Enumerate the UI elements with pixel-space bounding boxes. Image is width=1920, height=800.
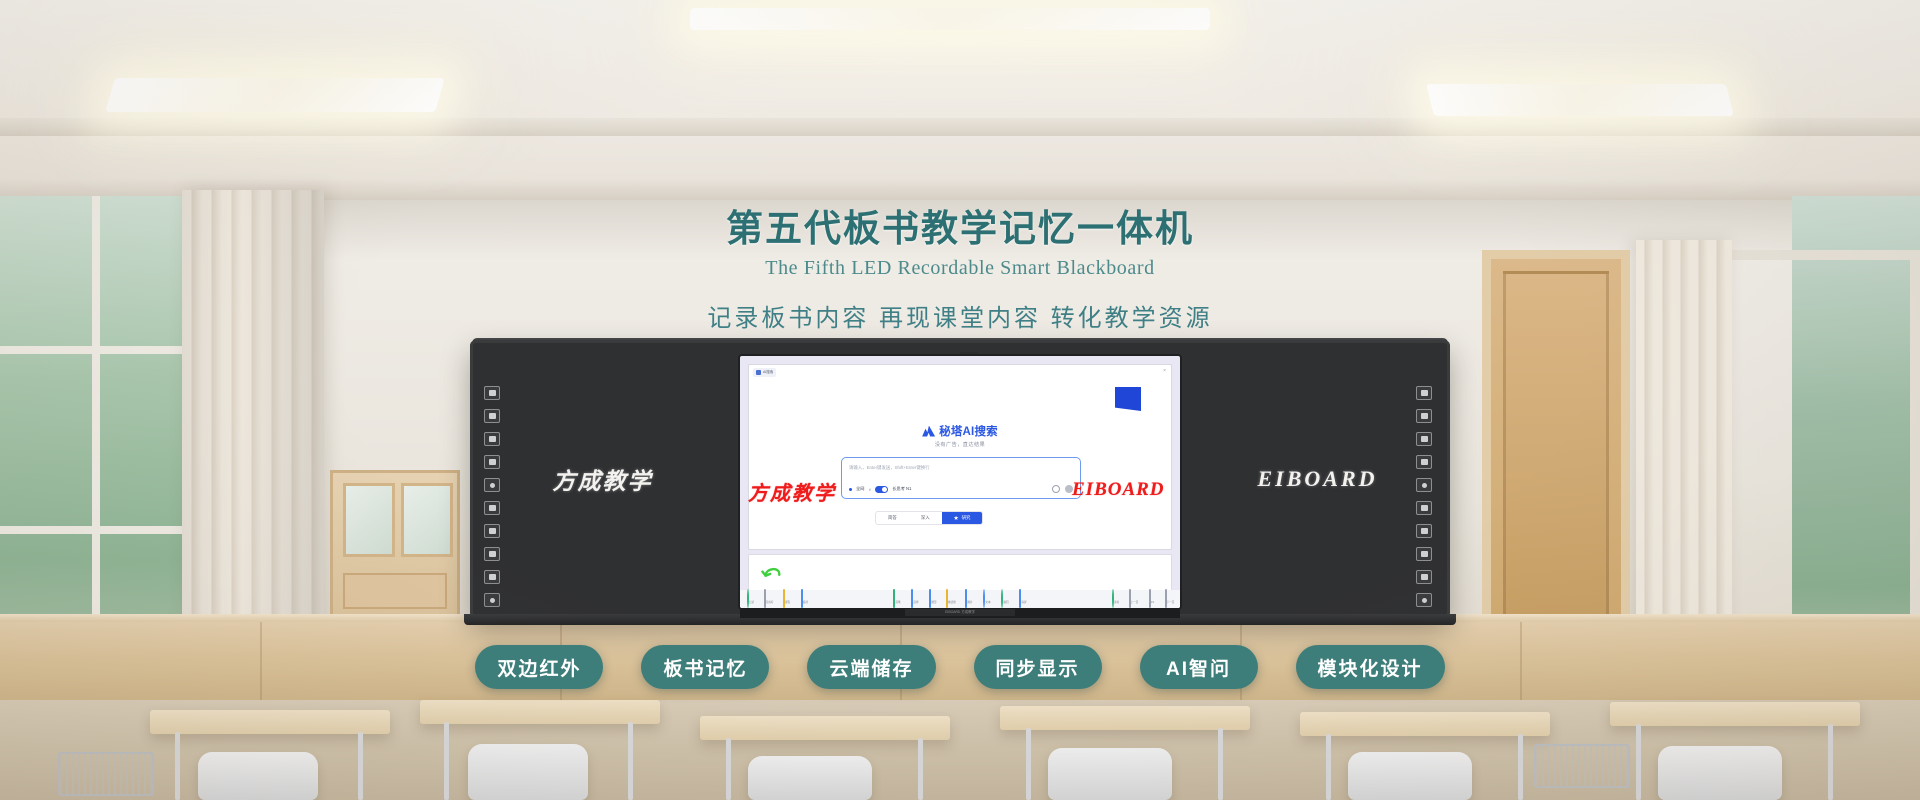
record-icon[interactable]: 记录 [745,590,756,608]
prev-page-icon[interactable]: 上一页 [1128,590,1139,608]
search-placeholder: 请输入，Enter键发送，Shift+Enter键换行 [849,465,930,471]
clear-screen-icon[interactable]: 清屏 [1018,590,1029,608]
brand-name: 秘塔AI搜索 [939,423,998,439]
desk [1000,706,1250,730]
desk [700,716,950,740]
toolbar-mid-group: 画笔 选择 图形 橡皮擦 图片 文本 撤回 [892,590,1029,608]
desk-basket [1534,744,1630,788]
board-right-wing: EIBOARD [1185,340,1450,618]
chair [1048,748,1172,800]
chevron-down-icon[interactable]: ∨ [868,487,871,492]
eraser-icon[interactable]: 橡皮擦 [946,590,957,608]
course-list-icon[interactable]: 课程 [781,590,792,608]
ceiling-light-2 [1426,84,1734,116]
desk-leg [444,722,449,800]
page-subtitle-en: The Fifth LED Recordable Smart Blackboar… [0,257,1920,280]
chair [1348,752,1472,800]
tab-research-label: 研究 [962,515,971,521]
camera-upload-icon[interactable] [1052,485,1060,493]
desk-leg [1636,724,1641,800]
classroom-scene: 第五代板书教学记忆一体机 The Fifth LED Recordable Sm… [0,0,1920,800]
browser-tab-label: AI搜索 [763,370,773,375]
sparkle-icon [954,516,959,521]
deep-think-label: 长思考 N1 [892,486,911,492]
ceiling-light-1 [105,78,445,112]
record-dot-icon[interactable]: 录制 [1110,590,1121,608]
app-grid-icon[interactable]: 应用库 [763,590,774,608]
browser-window[interactable]: AI搜索 × 秘塔AI搜索 没有广告，直达结果 请输入，Enter键发送，Shi… [748,364,1172,550]
undo-icon[interactable]: 撤回 [1000,590,1011,608]
desk-basket [58,752,154,796]
feature-pill-row: 双边红外 板书记忆 云端储存 同步显示 AI智问 模块化设计 [0,645,1920,689]
handwriting-red-left: 方成教学 [748,477,836,506]
desk-leg [726,738,731,800]
chair [748,756,872,800]
pill-modular-design[interactable]: 模块化设计 [1296,645,1445,689]
desk-leg [1518,734,1523,800]
chair [468,744,588,800]
tab-simple[interactable]: 简答 [876,512,909,524]
flag-decoration-icon [1115,387,1141,411]
ceiling-light-3 [690,8,1210,30]
pill-cloud-storage[interactable]: 云端储存 [807,645,935,689]
chalk-text-left: 方成教学 [553,462,653,496]
search-mode-tabs[interactable]: 简答 深入 研究 [875,511,983,525]
desk-leg [1026,728,1031,800]
desk [1610,702,1860,726]
favicon-icon [756,370,761,375]
pill-sync-display[interactable]: 同步显示 [974,645,1102,689]
desk-leg [358,732,363,800]
desk [420,700,660,724]
desk-leg [175,732,180,800]
brand-tagline: 没有广告，直达结果 [749,441,1171,448]
tab-deep[interactable]: 深入 [909,512,942,524]
headline-block: 第五代板书教学记忆一体机 The Fifth LED Recordable Sm… [0,198,1920,333]
pill-ai-ask[interactable]: AI智问 [1140,645,1258,689]
chair [198,752,318,800]
search-options-row: 全网 ∨ 长思考 N1 [849,485,1073,493]
desk [150,710,390,734]
brand-lockup: 秘塔AI搜索 [749,423,1171,439]
ceiling-beam [0,118,1920,136]
toolbar-left-group: 记录 应用库 课程 投屏 [745,590,810,608]
chair [1658,746,1782,800]
toolbar-right-group: 录制 上一页 1/1 下一页 [1110,590,1175,608]
device-logo: EIBOARD 方成教学 [905,609,1015,616]
select-icon[interactable]: 选择 [910,590,921,608]
image-icon[interactable]: 图片 [964,590,975,608]
pill-board-memory[interactable]: 板书记忆 [641,645,769,689]
desk [1300,712,1550,736]
browser-tab[interactable]: AI搜索 [753,368,776,377]
chalk-text-right: EIBOARD [1257,466,1377,492]
close-icon[interactable]: × [1163,369,1166,374]
search-scope-label[interactable]: 全网 [856,486,864,492]
tab-research[interactable]: 研究 [942,512,983,524]
undo-icon[interactable] [761,563,783,583]
annotation-canvas[interactable] [748,554,1172,592]
desk-leg [1218,728,1223,800]
next-page-icon[interactable]: 下一页 [1164,590,1175,608]
desk-leg [1326,734,1331,800]
handwriting-red-right: EIBOARD [1072,479,1165,501]
desk-leg [918,738,923,800]
pen-icon[interactable]: 画笔 [892,590,903,608]
shape-icon[interactable]: 图形 [928,590,939,608]
page-title: 第五代板书教学记忆一体机 [0,198,1920,252]
page-indicator: 1/1 [1146,590,1157,608]
cast-icon[interactable]: 投屏 [799,590,810,608]
search-input[interactable]: 请输入，Enter键发送，Shift+Enter键换行 全网 ∨ 长思考 N1 [841,457,1081,499]
board-left-wing: 方成教学 [470,340,735,618]
text-icon[interactable]: 文本 [982,590,993,608]
page-tagline: 记录板书内容 再现课堂内容 转化教学资源 [0,298,1920,333]
desk-leg [628,722,633,800]
pill-dual-infrared[interactable]: 双边红外 [475,645,603,689]
desk-leg [1828,724,1833,800]
deep-think-toggle[interactable] [875,486,888,493]
globe-icon [849,488,852,491]
screen-toolbar[interactable]: 记录 应用库 课程 投屏 画笔 [740,590,1180,608]
metaso-logo-icon [922,426,935,437]
